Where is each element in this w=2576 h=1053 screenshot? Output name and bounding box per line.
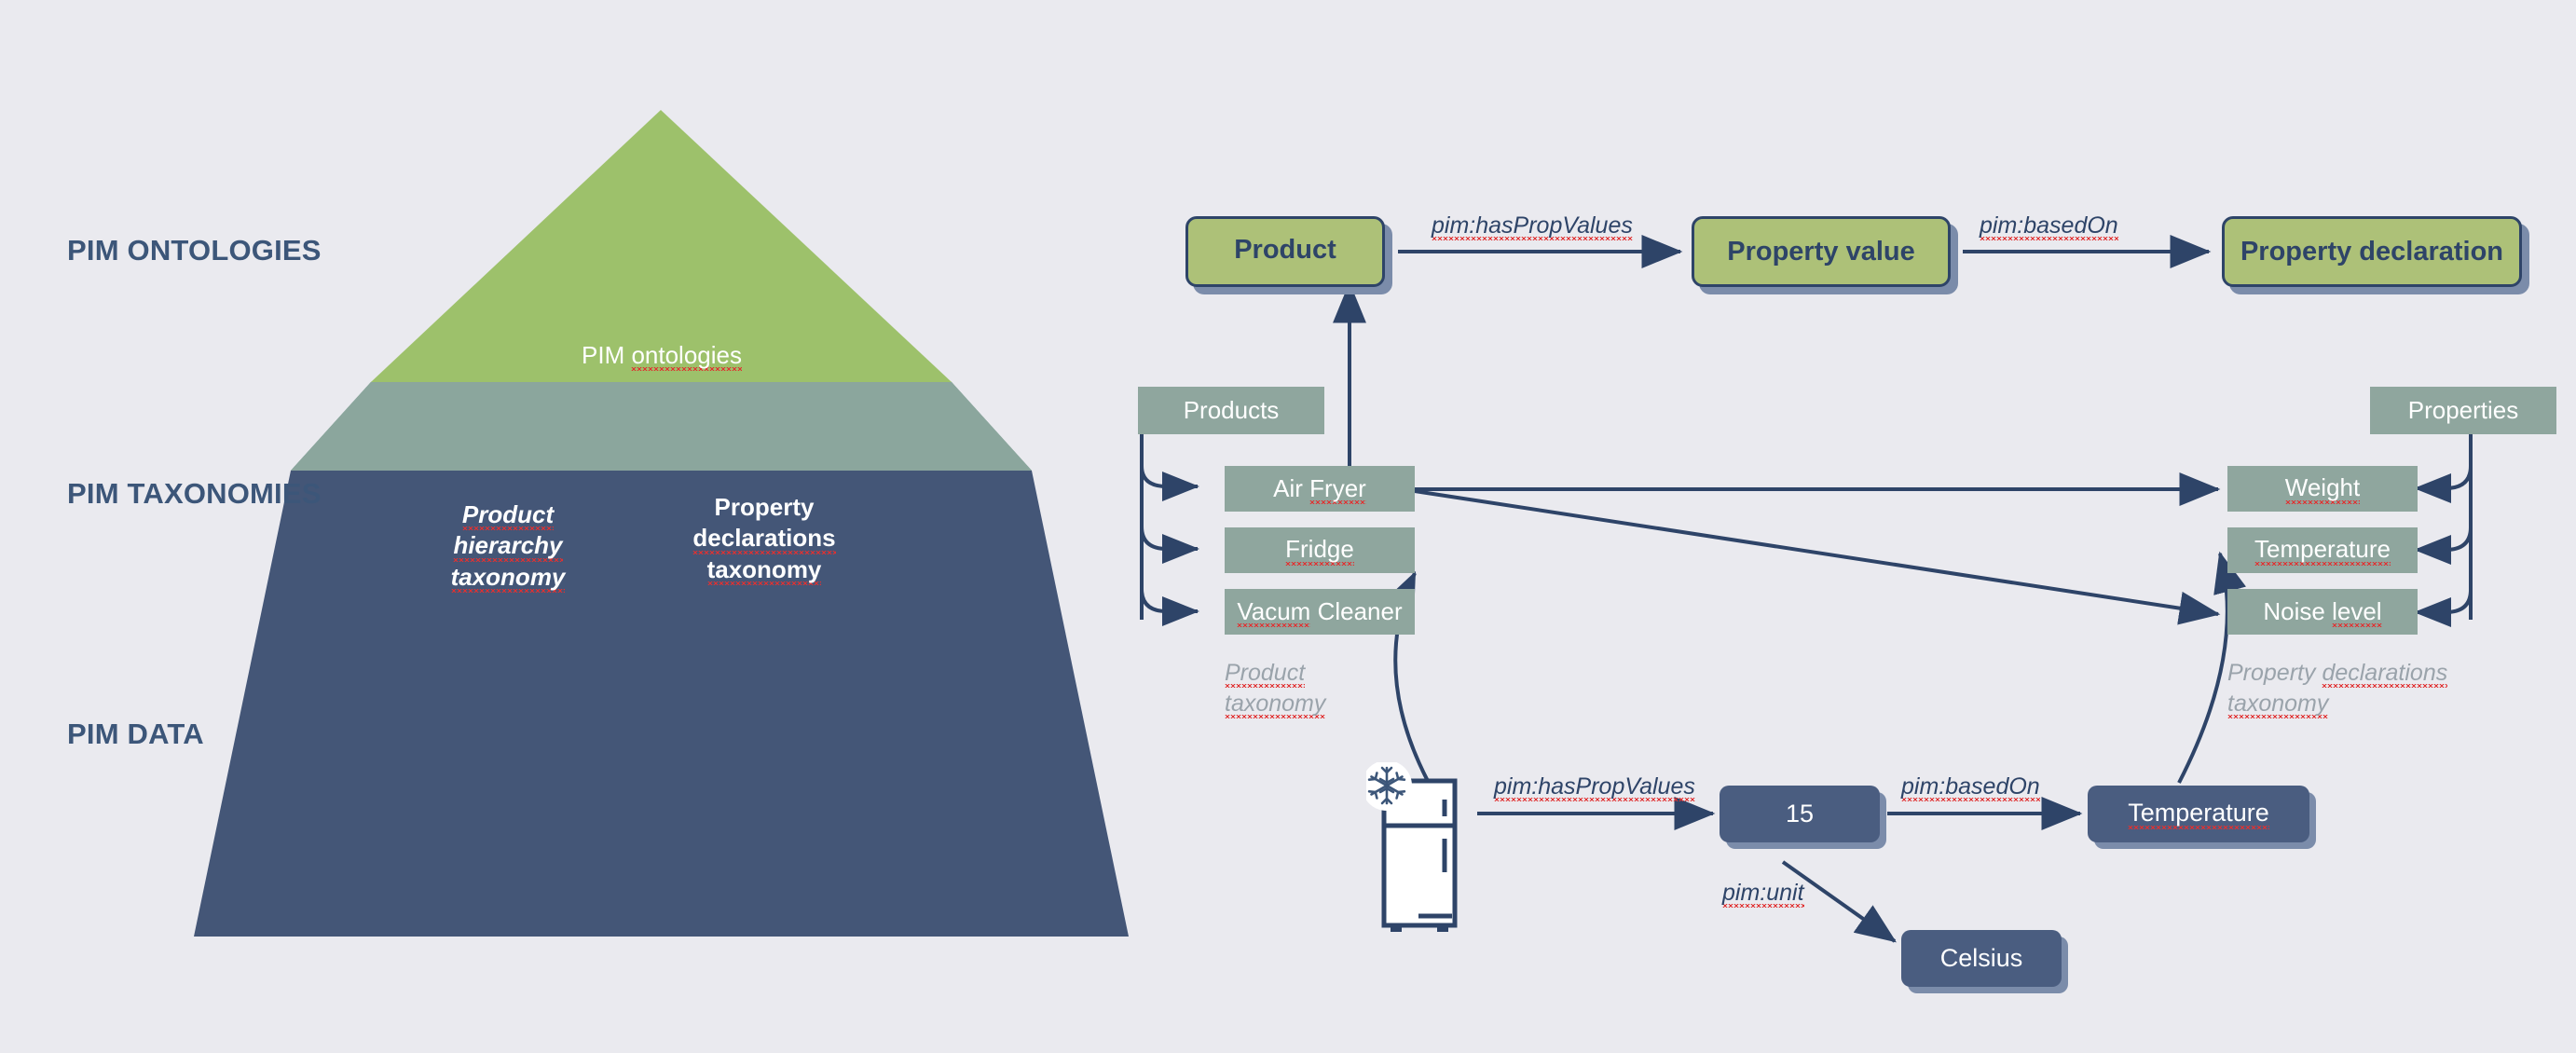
node-property-value[interactable]: Property value [1692,216,1951,287]
node-fridge[interactable]: Fridge [1225,527,1415,573]
edge-label-data-unit: pim:unit [1722,880,1804,907]
arrow-temperaturedata-to-temperature [2179,554,2227,783]
edge-label-onto-haspropvalues: pim:hasPropValues [1432,212,1633,239]
node-air-fryer[interactable]: Air Fryer [1225,466,1415,512]
caption-property-declarations-taxonomy: Property declarations taxonomy [2227,658,2447,719]
node-product[interactable]: Product [1185,216,1385,287]
node-products-root[interactable]: Products [1138,387,1324,434]
arrow-products-to-fridge [1142,526,1198,549]
arrow-airfryer-to-noiselevel [1415,491,2218,614]
edge-label-data-basedon: pim:basedOn [1901,773,2040,800]
node-noise-level[interactable]: Noise level [2227,589,2418,635]
arrow-properties-to-temperature [2416,527,2471,550]
diagram-canvas: PIM ONTOLOGIES PIM TAXONOMIES PIM DATA P… [0,0,2576,1053]
node-property-declaration[interactable]: Property declaration [2222,216,2522,287]
node-vacum-cleaner-label: Vacum Cleaner [1237,597,1402,626]
node-weight[interactable]: Weight [2227,466,2418,512]
arrow-products-to-vacumcleaner [1142,589,1198,611]
node-property-value-label: Property value [1727,237,1915,267]
node-property-declaration-label: Property declaration [2240,237,2503,267]
node-properties-root[interactable]: Properties [2370,387,2556,434]
node-air-fryer-label: Air Fryer [1273,474,1366,503]
arrow-properties-to-weight [2416,466,2471,488]
node-data-temperature[interactable]: Temperature [2088,786,2309,842]
edge-label-onto-basedon: pim:basedOn [1980,212,2118,239]
node-celsius[interactable]: Celsius [1901,930,2062,987]
node-vacum-cleaner[interactable]: Vacum Cleaner [1225,589,1415,635]
arrow-products-to-airfryer [1142,466,1198,486]
arrow-properties-to-noiselevel [2416,590,2471,612]
node-value-15[interactable]: 15 [1720,786,1880,842]
caption-product-taxonomy: Product taxonomy [1225,658,1325,719]
node-noise-level-label: Noise level [2263,597,2381,626]
node-temperature[interactable]: Temperature [2227,527,2418,573]
edge-label-data-haspropvalues: pim:hasPropValues [1494,773,1695,800]
fridge-icon [1366,762,1471,939]
graph-connectors [0,0,2576,1053]
